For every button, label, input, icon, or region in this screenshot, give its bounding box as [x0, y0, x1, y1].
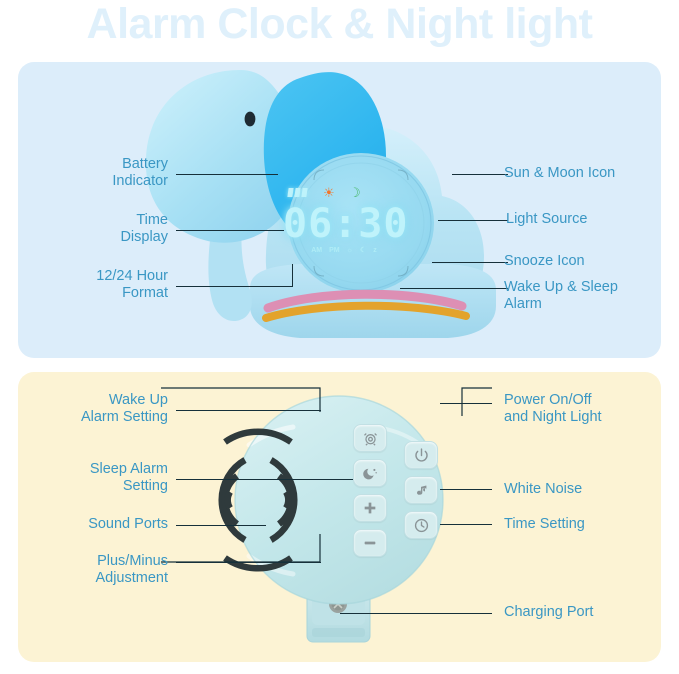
- leader-plus-minus-adjustment: [176, 562, 321, 563]
- label-light-source: Light Source: [506, 211, 666, 228]
- leader-snooze-icon: [432, 262, 508, 263]
- leader-light-source: [438, 220, 508, 221]
- infographic-root: Alarm Clock & Night light: [0, 0, 679, 674]
- leader-hour-format: [176, 286, 292, 287]
- music-note-icon: [413, 482, 429, 498]
- leader-time-display: [176, 230, 284, 231]
- leader-battery-indicator: [176, 174, 278, 175]
- leader-sun-moon-icon: [452, 174, 508, 175]
- label-wake-sleep-alarm: Wake Up & Sleep Alarm: [504, 279, 674, 313]
- leader-wake-up-alarm-setting: [176, 410, 321, 411]
- leader-white-noise: [440, 489, 492, 490]
- elephant-eye: [245, 112, 256, 127]
- leader-hour-format-riser: [292, 264, 293, 287]
- clock-button[interactable]: [404, 511, 438, 539]
- leader-charging-port: [340, 613, 492, 614]
- moon-star-icon: [362, 465, 379, 482]
- clock-face-group: [288, 153, 434, 293]
- label-hour-format: 12/24 Hour Format: [28, 268, 168, 302]
- label-time-setting: Time Setting: [504, 516, 664, 533]
- label-time-display: Time Display: [40, 212, 168, 246]
- alarm-clock-icon: [362, 430, 379, 447]
- music-button[interactable]: [404, 476, 438, 504]
- label-wake-up-alarm-setting: Wake Up Alarm Setting: [20, 392, 168, 426]
- plus-icon: [362, 500, 378, 516]
- label-snooze-icon: Snooze Icon: [504, 253, 664, 270]
- leader-time-setting: [440, 524, 492, 525]
- label-white-noise: White Noise: [504, 481, 664, 498]
- leader-power-night-light: [440, 403, 492, 404]
- leader-sleep-alarm-setting: [176, 479, 353, 480]
- label-sound-ports: Sound Ports: [20, 516, 168, 533]
- sleep-button[interactable]: [353, 459, 387, 487]
- label-battery-indicator: Battery Indicator: [40, 156, 168, 190]
- clock-icon: [413, 517, 430, 534]
- page-title: Alarm Clock & Night light: [0, 0, 679, 50]
- label-power-night-light: Power On/Off and Night Light: [504, 392, 676, 426]
- plus-button[interactable]: [353, 494, 387, 522]
- alarm-button[interactable]: [353, 424, 387, 452]
- front-view-illustration: [18, 62, 661, 358]
- leader-wake-sleep-alarm: [400, 288, 508, 289]
- minus-icon: [362, 535, 378, 551]
- power-button[interactable]: [404, 441, 438, 469]
- label-sleep-alarm-setting: Sleep Alarm Setting: [20, 461, 168, 495]
- leader-sound-ports: [176, 525, 266, 526]
- label-plus-minus-adjustment: Plus/Minus Adjustment: [20, 553, 168, 587]
- label-sun-moon-icon: Sun & Moon Icon: [504, 165, 664, 182]
- power-icon: [413, 447, 430, 464]
- minus-button[interactable]: [353, 529, 387, 557]
- label-charging-port: Charging Port: [504, 604, 664, 621]
